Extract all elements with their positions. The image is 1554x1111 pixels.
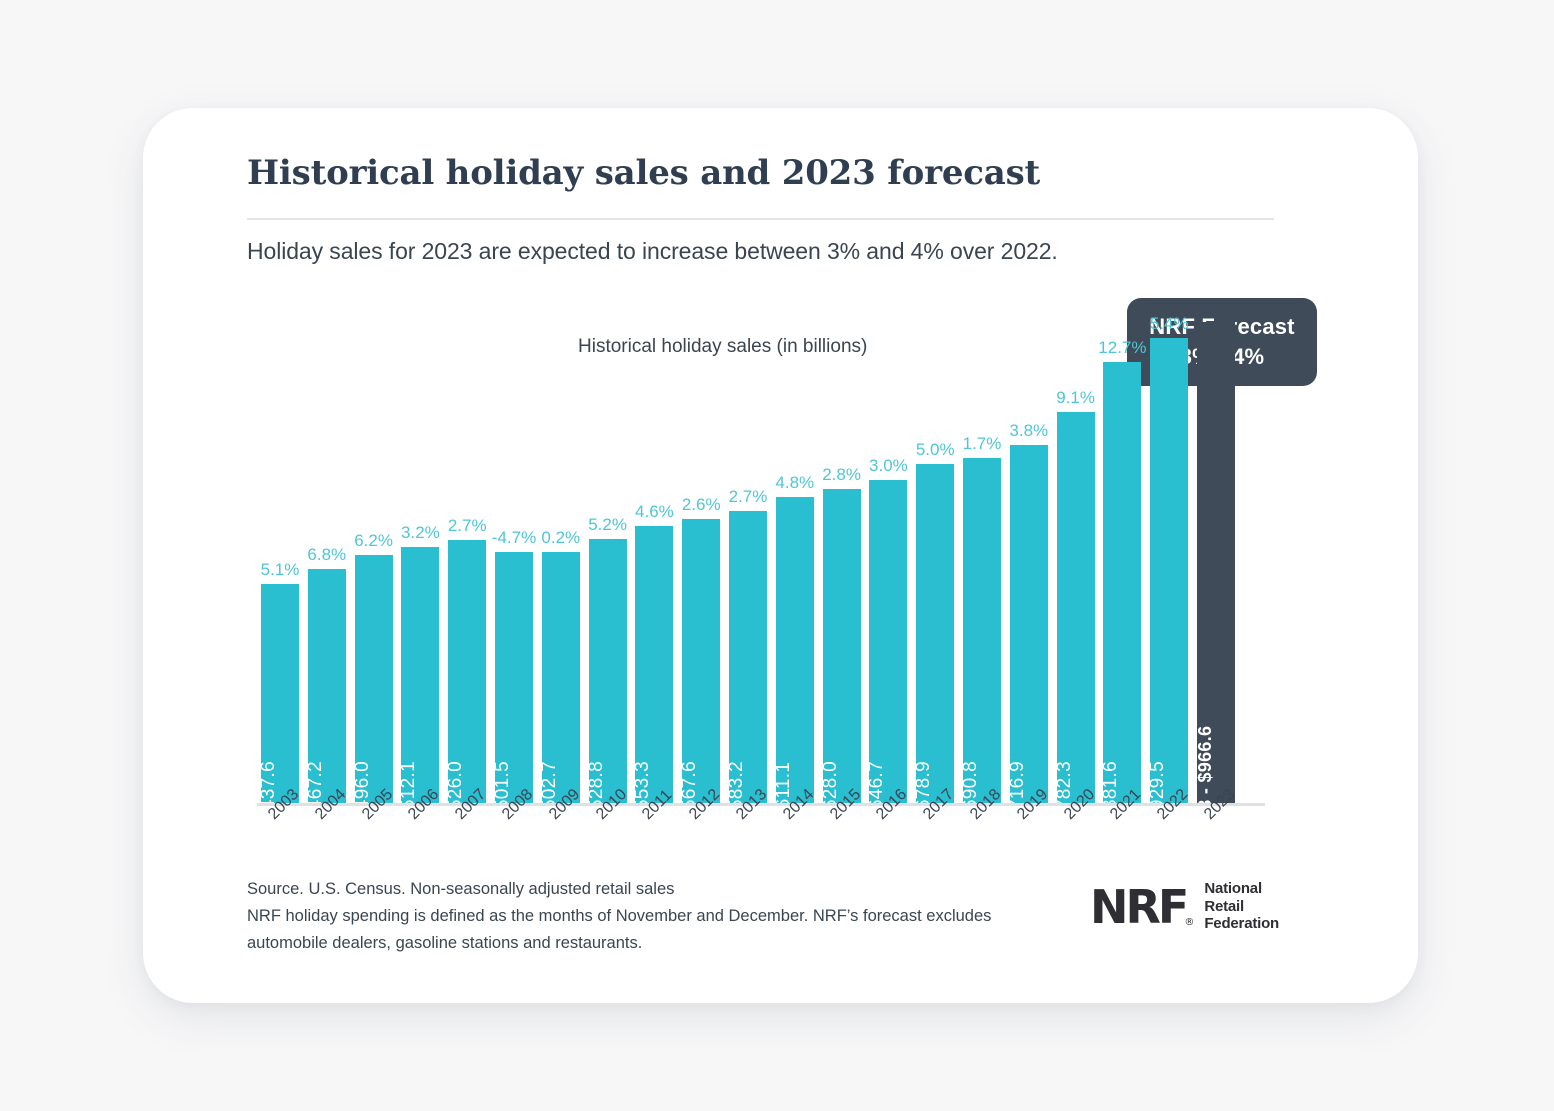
bar[interactable]: $646.7 <box>869 480 907 803</box>
bar-growth-label: 5.1% <box>261 560 300 580</box>
bar-column[interactable]: $567.62.6% <box>682 283 720 803</box>
bars-container: $437.65.1%$467.26.8%$496.06.2%$512.13.2%… <box>261 283 1261 803</box>
footnote-source: Source. U.S. Census. Non-seasonally adju… <box>247 876 1037 903</box>
screenshot-root: Historical holiday sales and 2023 foreca… <box>0 0 1554 1111</box>
bar[interactable]: $501.5 <box>495 552 533 803</box>
bar-growth-label: 2.7% <box>729 487 768 507</box>
bar-growth-label: 4.6% <box>635 502 674 522</box>
bar-column[interactable]: $646.73.0% <box>869 283 907 803</box>
title-divider <box>247 218 1274 220</box>
bar[interactable]: $716.9 <box>1010 445 1048 803</box>
footnote-definition: NRF holiday spending is defined as the m… <box>247 903 1037 957</box>
bar[interactable]: $567.6 <box>682 519 720 803</box>
bar[interactable]: $628.0 <box>823 489 861 803</box>
nrf-word-national: National <box>1204 880 1279 898</box>
bar-column[interactable]: $628.02.8% <box>823 283 861 803</box>
chart-card: Historical holiday sales and 2023 foreca… <box>143 108 1418 1003</box>
bar-column[interactable]: $501.5-4.7% <box>495 283 533 803</box>
bar-column[interactable]: $583.22.7% <box>729 283 767 803</box>
bar-growth-label: 9.1% <box>1056 388 1095 408</box>
bar-growth-label: 3.0% <box>869 456 908 476</box>
bar-growth-label: 1.7% <box>963 434 1002 454</box>
bar[interactable]: $929.5 <box>1150 338 1188 803</box>
bar-growth-label: 2.8% <box>822 465 861 485</box>
bar-growth-label: 5.0% <box>916 440 955 460</box>
bar-column[interactable]: $678.95.0% <box>916 283 954 803</box>
bar-growth-label: 6.8% <box>307 545 346 565</box>
nrf-logo: NRF® National Retail Federation <box>1090 880 1279 933</box>
bar-growth-label: 3.8% <box>1009 421 1048 441</box>
bar-growth-label: 12.7% <box>1098 338 1146 358</box>
bar-growth-label: 6.2% <box>354 531 393 551</box>
bar[interactable]: $528.8 <box>589 539 627 803</box>
bar-column[interactable]: $716.93.8% <box>1010 283 1048 803</box>
bar-column[interactable]: $782.39.1% <box>1057 283 1095 803</box>
nrf-wordmark: NRF® <box>1090 884 1186 930</box>
bar[interactable]: $502.7 <box>542 552 580 803</box>
bar-column[interactable]: $526.02.7% <box>448 283 486 803</box>
bar[interactable]: $512.1 <box>401 547 439 803</box>
bar-value-label: $957.3 - $966.6 <box>1195 726 1216 857</box>
bar[interactable]: $496.0 <box>355 555 393 803</box>
bar-growth-label: 4.8% <box>775 473 814 493</box>
bar-growth-label: -4.7% <box>492 528 536 548</box>
bar-growth-label: 2.6% <box>682 495 721 515</box>
bar[interactable]: $611.1 <box>776 497 814 803</box>
page-title: Historical holiday sales and 2023 foreca… <box>247 153 1040 193</box>
bar-chart-plot: $437.65.1%$467.26.8%$496.06.2%$512.13.2%… <box>247 283 1307 803</box>
bar[interactable]: $678.9 <box>916 464 954 803</box>
bar-column[interactable]: $553.34.6% <box>635 283 673 803</box>
bar[interactable]: $782.3 <box>1057 412 1095 803</box>
bar[interactable]: $690.8 <box>963 458 1001 803</box>
bar-growth-label: 2.7% <box>448 516 487 536</box>
bar-growth-label: 5.2% <box>588 515 627 535</box>
bar-column[interactable]: $512.13.2% <box>401 283 439 803</box>
footnotes: Source. U.S. Census. Non-seasonally adju… <box>247 876 1037 958</box>
bar-growth-label: 5.4% <box>1150 314 1189 334</box>
bar[interactable]: $583.2 <box>729 511 767 803</box>
bar-column[interactable]: $528.85.2% <box>589 283 627 803</box>
nrf-logo-words: National Retail Federation <box>1196 880 1279 933</box>
bar-column[interactable]: $881.612.7% <box>1103 283 1141 803</box>
bar-growth-label: 3.2% <box>401 523 440 543</box>
bar-growth-label: 0.2% <box>541 528 580 548</box>
bar-column[interactable]: $929.55.4% <box>1150 283 1188 803</box>
bar-column[interactable]: $437.65.1% <box>261 283 299 803</box>
bar-column[interactable]: $502.70.2% <box>542 283 580 803</box>
bar[interactable]: $553.3 <box>635 526 673 803</box>
bar[interactable]: $467.2 <box>308 569 346 803</box>
bar[interactable]: $881.6 <box>1103 362 1141 803</box>
bar-column[interactable]: $496.06.2% <box>355 283 393 803</box>
bar[interactable]: $437.6 <box>261 584 299 803</box>
registered-trademark-icon: ® <box>1184 918 1194 928</box>
bar-column[interactable]: $957.3 - $966.6 <box>1197 283 1235 803</box>
bar-column[interactable]: $690.81.7% <box>963 283 1001 803</box>
nrf-wordmark-text: NRF <box>1090 880 1186 934</box>
nrf-word-federation: Federation <box>1204 915 1279 933</box>
forecast-bar[interactable]: $957.3 - $966.6 <box>1197 322 1235 803</box>
bar[interactable]: $526.0 <box>448 540 486 803</box>
nrf-word-retail: Retail <box>1204 898 1279 916</box>
bar-column[interactable]: $467.26.8% <box>308 283 346 803</box>
chart-subtitle: Holiday sales for 2023 are expected to i… <box>247 238 1058 265</box>
bar-column[interactable]: $611.14.8% <box>776 283 814 803</box>
